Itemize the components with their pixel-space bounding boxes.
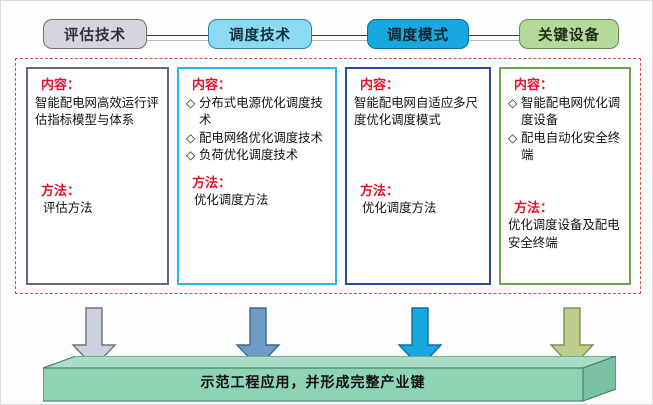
header-box-dispatch-technology[interactable]: 调度技术 bbox=[208, 19, 312, 49]
list-item-label: 配电自动化安全终端 bbox=[521, 131, 620, 163]
header-box-key-equipment[interactable]: 关键设备 bbox=[519, 19, 619, 49]
content-label: 内容： bbox=[514, 76, 623, 94]
list-item-label: 负荷优化调度技术 bbox=[199, 148, 298, 162]
diamond-bullet-icon: ◇ bbox=[508, 95, 517, 113]
content-label: 内容： bbox=[41, 76, 161, 94]
list-item-label: 智能配电网优化调度设备 bbox=[521, 96, 620, 128]
diamond-bullet-icon: ◇ bbox=[508, 130, 517, 148]
content-box-key-equipment[interactable]: 内容： ◇ 智能配电网优化调度设备 ◇ 配电自动化安全终端 方法： 优化调度设备… bbox=[499, 67, 631, 285]
content-text: 智能配电网自适应多尺度优化调度模式 bbox=[354, 95, 483, 130]
diamond-bullet-icon: ◇ bbox=[186, 130, 195, 148]
content-box-dispatch-technology[interactable]: 内容： ◇ 分布式电源优化调度技术 ◇ 配电网络优化调度技术 ◇ 负荷优化调度技… bbox=[177, 67, 337, 285]
header-label: 调度技术 bbox=[229, 24, 291, 45]
method-text: 优化调度设备及配电安全终端 bbox=[508, 217, 623, 252]
content-label: 内容： bbox=[192, 76, 329, 94]
content-box-evaluation[interactable]: 内容： 智能配电网高效运行评估指标模型与体系 方法： 评估方法 bbox=[26, 67, 169, 285]
header-label: 关键设备 bbox=[538, 24, 600, 45]
list-item-label: 分布式电源优化调度技术 bbox=[199, 96, 323, 128]
outcome-banner-label: 示范工程应用，并形成完整产业键 bbox=[43, 372, 583, 392]
diamond-bullet-icon: ◇ bbox=[186, 95, 195, 113]
spacer bbox=[35, 130, 161, 182]
header-row: 评估技术 调度技术 调度模式 关键设备 bbox=[1, 9, 653, 53]
method-text: 优化调度方法 bbox=[362, 200, 483, 218]
method-label: 方法： bbox=[360, 182, 483, 200]
method-text: 优化调度方法 bbox=[194, 192, 329, 210]
outcome-banner[interactable]: 示范工程应用，并形成完整产业键 bbox=[43, 356, 616, 402]
method-label: 方法： bbox=[192, 174, 329, 192]
list-item: ◇ 配电网络优化调度技术 bbox=[186, 130, 329, 148]
connector-line-2 bbox=[311, 35, 369, 41]
list-item-label: 配电网络优化调度技术 bbox=[199, 131, 323, 145]
header-label: 调度模式 bbox=[387, 24, 449, 45]
diamond-bullet-icon: ◇ bbox=[186, 147, 195, 165]
connector-line-1 bbox=[147, 35, 209, 41]
spacer bbox=[508, 165, 623, 199]
list-item: ◇ 智能配电网优化调度设备 bbox=[508, 95, 623, 130]
content-item-list: ◇ 分布式电源优化调度技术 ◇ 配电网络优化调度技术 ◇ 负荷优化调度技术 bbox=[186, 95, 329, 165]
method-label: 方法： bbox=[41, 182, 161, 200]
spacer bbox=[354, 130, 483, 182]
spacer bbox=[186, 165, 329, 174]
list-item: ◇ 负荷优化调度技术 bbox=[186, 147, 329, 165]
header-box-evaluation-technology[interactable]: 评估技术 bbox=[43, 19, 147, 49]
diagram-canvas: 评估技术 调度技术 调度模式 关键设备 内容： 智能配电网高效运行评估指标模型与… bbox=[0, 0, 653, 405]
content-item-list: ◇ 智能配电网优化调度设备 ◇ 配电自动化安全终端 bbox=[508, 95, 623, 165]
connector-line-3 bbox=[468, 35, 520, 41]
method-label: 方法： bbox=[514, 199, 623, 217]
header-box-dispatch-mode[interactable]: 调度模式 bbox=[367, 19, 469, 49]
header-label: 评估技术 bbox=[64, 24, 126, 45]
list-item: ◇ 配电自动化安全终端 bbox=[508, 130, 623, 165]
content-label: 内容： bbox=[360, 76, 483, 94]
content-box-dispatch-mode[interactable]: 内容： 智能配电网自适应多尺度优化调度模式 方法： 优化调度方法 bbox=[345, 67, 491, 285]
content-text: 智能配电网高效运行评估指标模型与体系 bbox=[35, 95, 161, 130]
method-text: 评估方法 bbox=[43, 200, 161, 218]
list-item: ◇ 分布式电源优化调度技术 bbox=[186, 95, 329, 130]
